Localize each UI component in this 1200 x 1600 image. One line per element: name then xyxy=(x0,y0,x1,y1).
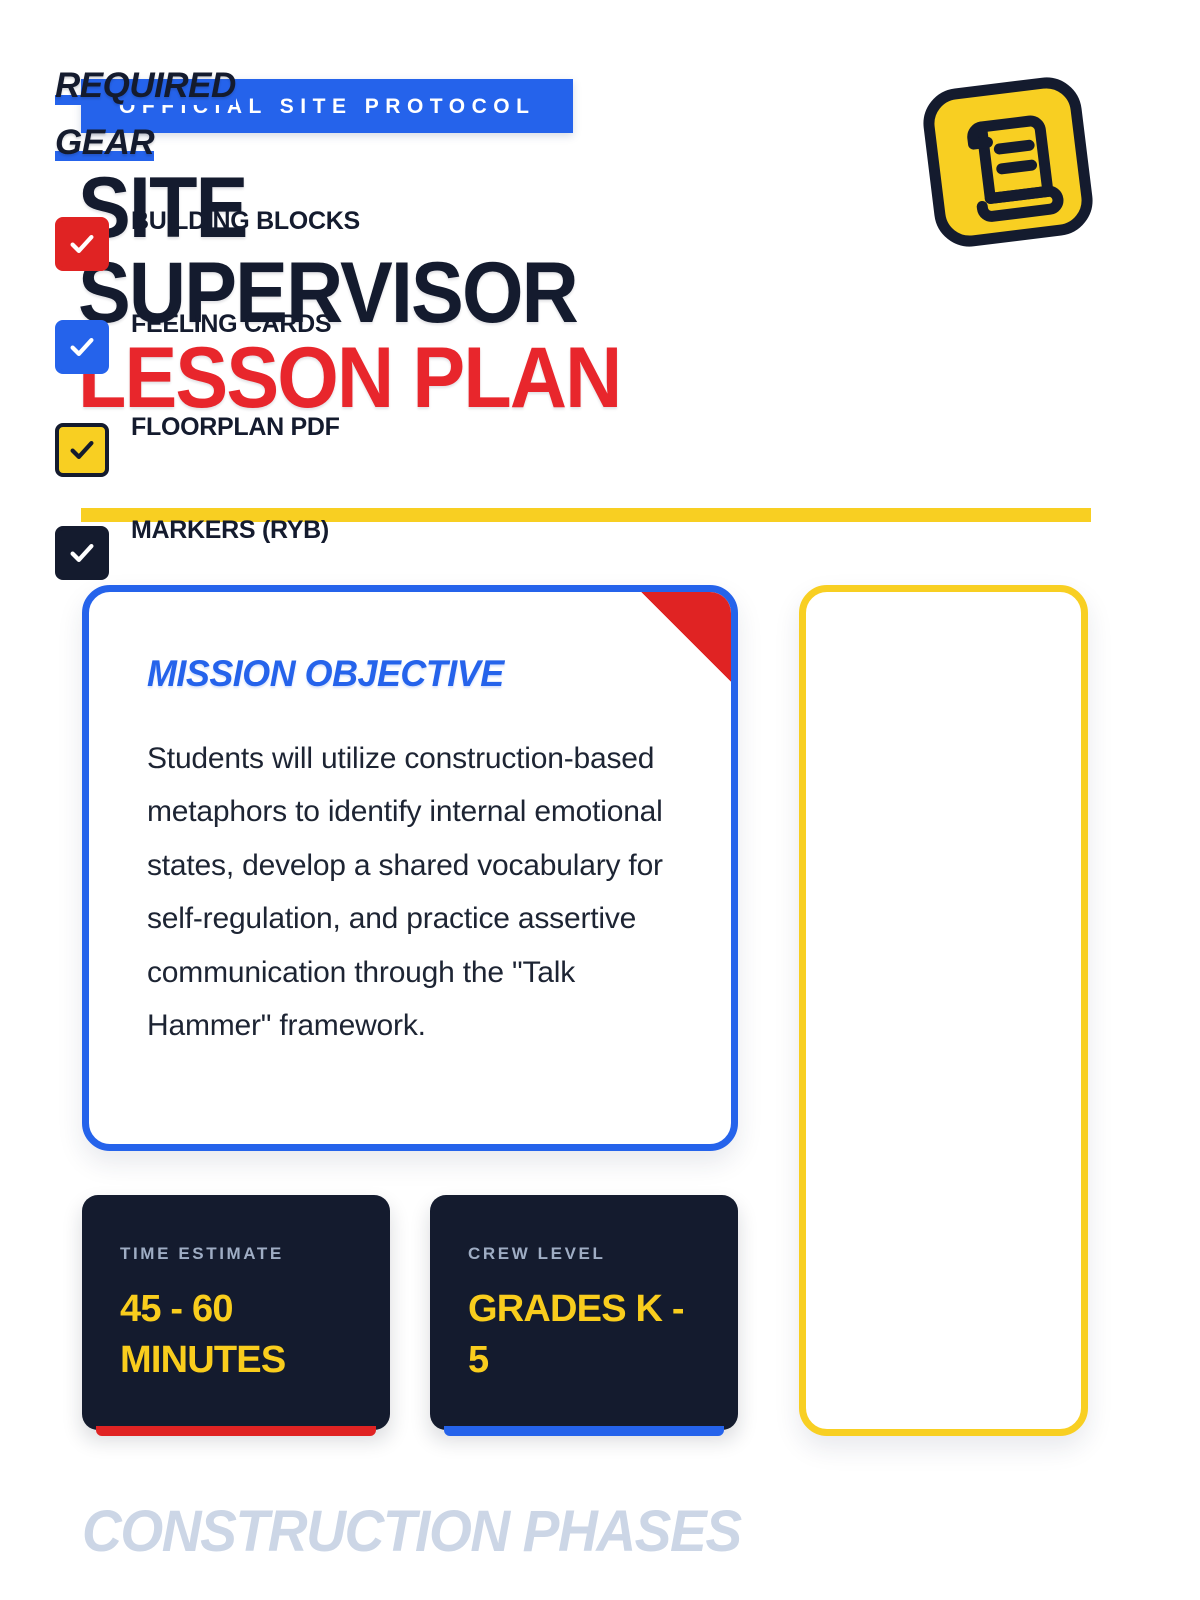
required-gear-list: BUILDING BLOCKS FEELING CARDS FLOORPLAN … xyxy=(55,203,355,615)
checkbox-checked-icon[interactable] xyxy=(55,217,109,271)
corner-flag-icon xyxy=(640,591,732,683)
gear-item-label: FEELING CARDS xyxy=(131,306,331,342)
mission-objective-card: MISSION OBJECTIVE Students will utilize … xyxy=(82,585,738,1151)
required-gear-card xyxy=(799,585,1088,1436)
required-gear-title-line-1: REQUIRED xyxy=(55,66,236,107)
gear-list-item[interactable]: BUILDING BLOCKS xyxy=(55,203,355,271)
gear-item-label: MARKERS (RYB) xyxy=(131,512,329,548)
mission-objective-title: MISSION OBJECTIVE xyxy=(147,653,504,695)
stat-row: TIME ESTIMATE 45 - 60 MINUTES CREW LEVEL… xyxy=(82,1195,738,1435)
scroll-document-icon xyxy=(908,62,1108,262)
checkbox-checked-icon[interactable] xyxy=(55,320,109,374)
gear-item-label: FLOORPLAN PDF xyxy=(131,409,340,445)
gear-list-item[interactable]: FEELING CARDS xyxy=(55,306,355,374)
stat-accent-bar xyxy=(96,1426,376,1436)
required-gear-title-line-2: GEAR xyxy=(55,123,154,164)
gear-item-label: BUILDING BLOCKS xyxy=(131,203,360,239)
construction-phases-heading: CONSTRUCTION PHASES xyxy=(82,1498,741,1565)
checkbox-checked-icon[interactable] xyxy=(55,423,109,477)
stat-value: 45 - 60 MINUTES xyxy=(120,1284,352,1387)
stat-accent-bar xyxy=(444,1426,724,1436)
checkbox-checked-icon[interactable] xyxy=(55,526,109,580)
stat-value: GRADES K - 5 xyxy=(468,1284,700,1387)
stat-label: TIME ESTIMATE xyxy=(120,1245,352,1262)
required-gear-title: REQUIRED GEAR xyxy=(55,58,335,171)
stat-box-crew-level: CREW LEVEL GRADES K - 5 xyxy=(430,1195,738,1430)
stat-label: CREW LEVEL xyxy=(468,1245,700,1262)
gear-list-item[interactable]: MARKERS (RYB) xyxy=(55,512,355,580)
mission-objective-body: Students will utilize construction-based… xyxy=(147,732,692,1052)
lesson-plan-page: OFFICIAL SITE PROTOCOL SITE SUPERVISOR L… xyxy=(0,0,1200,1600)
stat-box-time-estimate: TIME ESTIMATE 45 - 60 MINUTES xyxy=(82,1195,390,1430)
gear-list-item[interactable]: FLOORPLAN PDF xyxy=(55,409,355,477)
